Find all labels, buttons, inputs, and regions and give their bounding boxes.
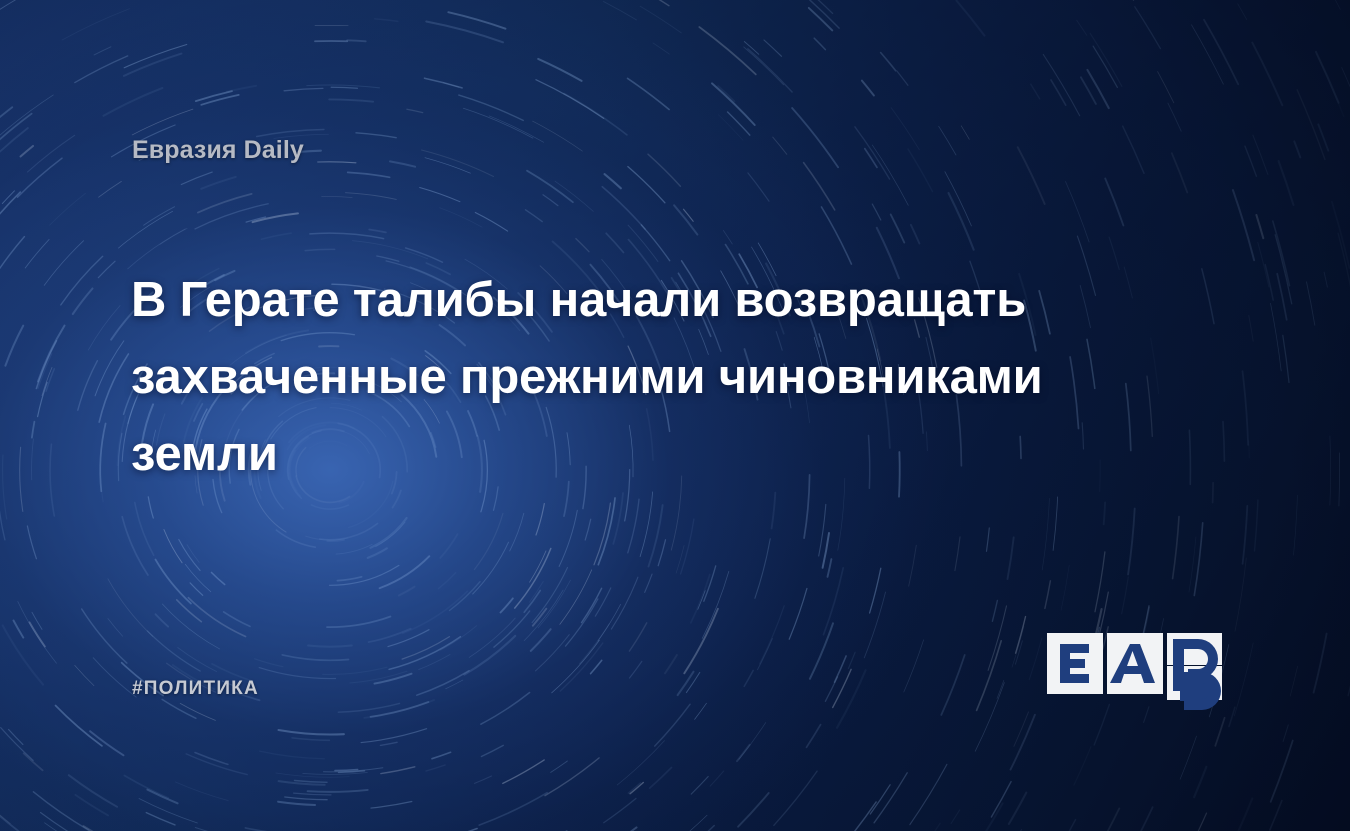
logo-letter-e <box>1060 644 1089 683</box>
news-share-card: Евразия Daily В Герате талибы начали воз… <box>0 0 1350 831</box>
ead-logo[interactable] <box>1045 600 1245 720</box>
page-title: В Герате талибы начали возвращать захвач… <box>131 262 1191 493</box>
category-tag[interactable]: #ПОЛИТИКА <box>132 678 259 700</box>
headline-line-2: захваченные прежними чиновниками <box>131 339 1191 416</box>
headline-line-3: земли <box>131 416 1191 493</box>
headline-line-1: В Герате талибы начали возвращать <box>131 262 1191 339</box>
masthead-brand[interactable]: Евразия Daily <box>132 136 304 165</box>
logo-tile-a <box>1107 633 1163 694</box>
